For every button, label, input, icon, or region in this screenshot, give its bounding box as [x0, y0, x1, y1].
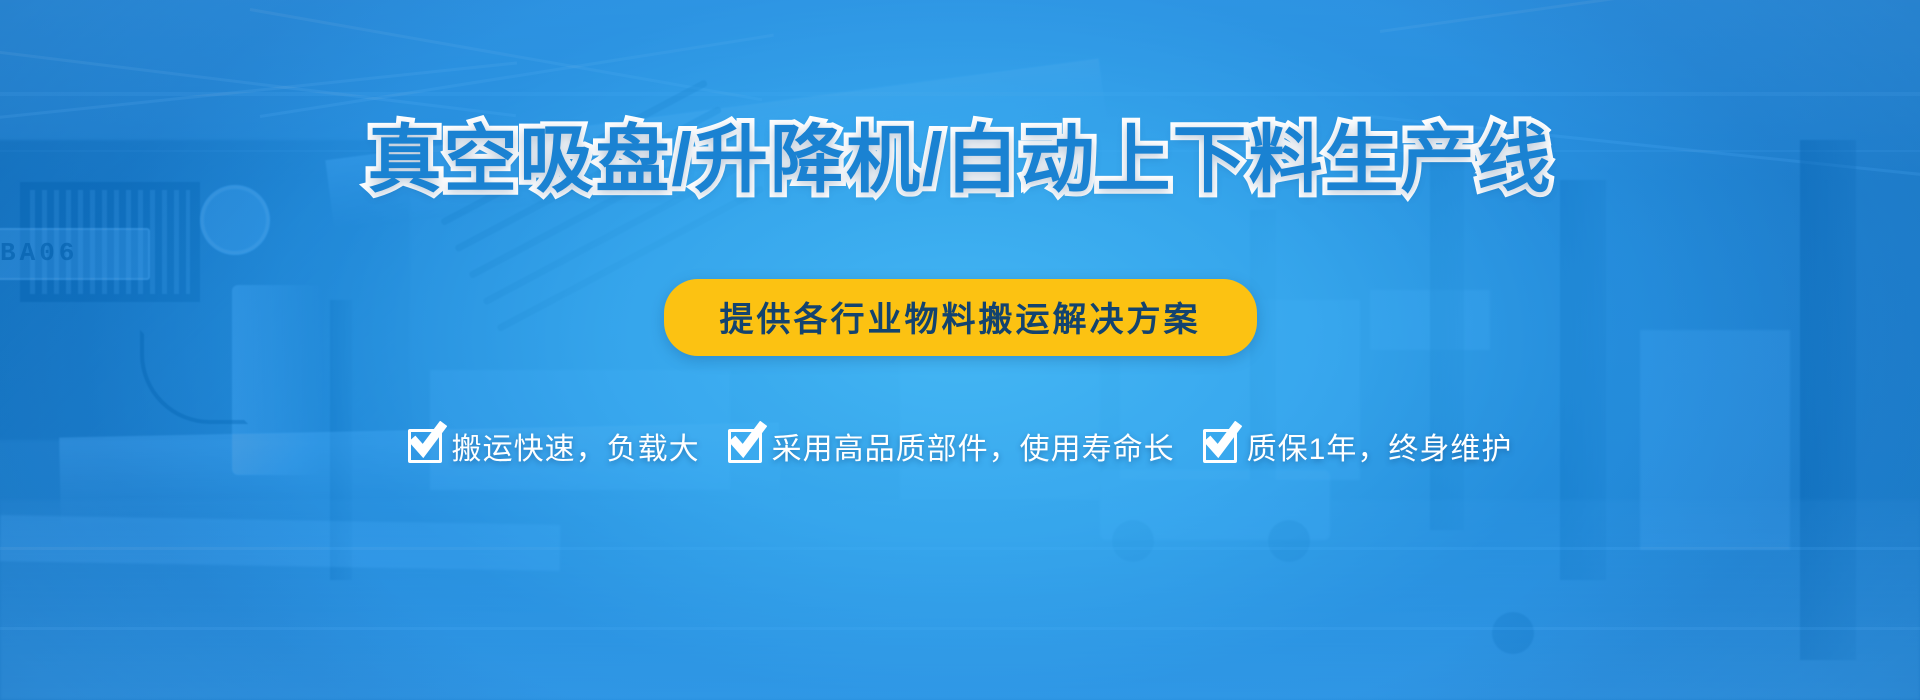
- feature-item: 搬运快速，负载大: [408, 424, 700, 468]
- checkbox-check-icon: [1203, 429, 1237, 463]
- feature-label: 搬运快速，负载大: [452, 424, 700, 468]
- banner-subtitle-pill: 提供各行业物料搬运解决方案: [664, 279, 1257, 356]
- promo-banner: BA06 真空吸盘/升降机/自动上下料生产线 提供各行业物料搬运解决方案: [0, 0, 1920, 700]
- feature-label: 质保1年，终身维护: [1247, 424, 1513, 468]
- feature-label: 采用高品质部件，使用寿命长: [772, 424, 1175, 468]
- feature-item: 质保1年，终身维护: [1203, 424, 1513, 468]
- banner-content: 真空吸盘/升降机/自动上下料生产线 提供各行业物料搬运解决方案 搬运快速，负载大: [0, 0, 1920, 700]
- checkbox-check-icon: [728, 429, 762, 463]
- feature-item: 采用高品质部件，使用寿命长: [728, 424, 1175, 468]
- feature-list: 搬运快速，负载大 采用高品质部件，使用寿命长 质保1: [408, 424, 1513, 468]
- banner-headline: 真空吸盘/升降机/自动上下料生产线: [367, 122, 1552, 199]
- checkbox-check-icon: [408, 429, 442, 463]
